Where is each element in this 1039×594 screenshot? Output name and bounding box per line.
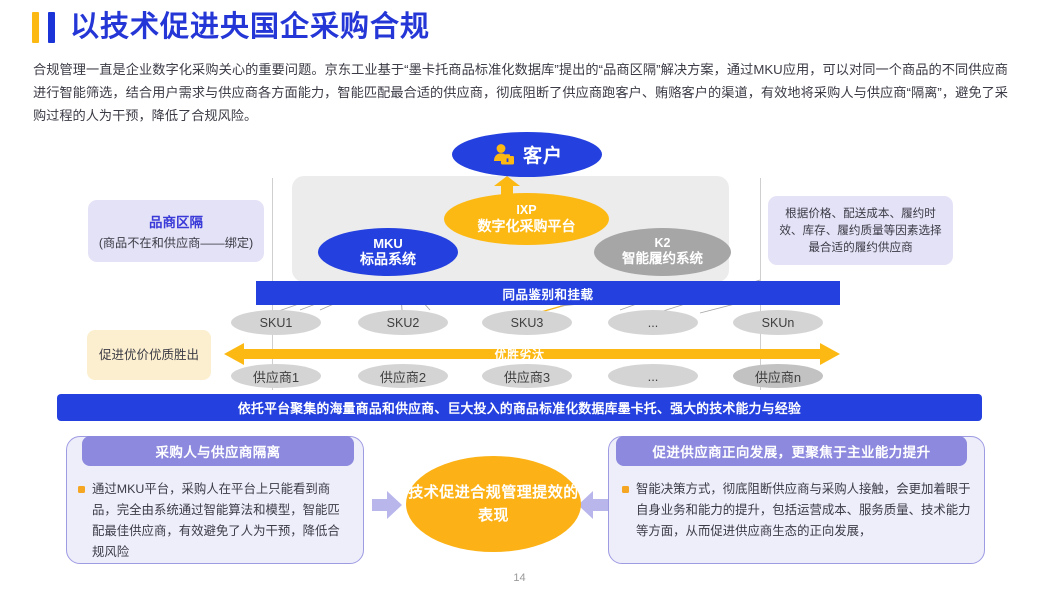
panel-left-body-text: 通过MKU平台，采购人在平台上只能看到商品，完全由系统通过智能算法和模型，智能匹… [92,479,350,563]
intro-paragraph: 合规管理一直是企业数字化采购关心的重要问题。京东工业基于“墨卡托商品标准化数据库… [33,58,1008,127]
title-accent-bar-blue [48,12,55,43]
bullet-icon [78,486,85,493]
center-summary-label: 技术促进合规管理提效的表现 [406,481,581,527]
panel-left-heading: 采购人与供应商隔离 [155,441,280,461]
ixp-node[interactable]: IXP 数字化采购平台 [444,193,609,245]
sku-pill[interactable]: SKU2 [358,310,448,335]
center-summary-node: 技术促进合规管理提效的表现 [406,456,581,552]
title-text: 以技术促进央国企采购合规 [70,12,430,43]
panel-left-body: 通过MKU平台，采购人在平台上只能看到商品，完全由系统通过智能算法和模型，智能匹… [78,479,350,563]
note-left-heading: 品商区隔 [149,211,203,231]
panel-right-header: 促进供应商正向发展，更聚焦于主业能力提升 [616,436,967,466]
panel-right-body-text: 智能决策方式，彻底阻断供应商与采购人接触，会更加着眼于自身业务和能力的提升，包括… [636,479,972,542]
panel-left-header: 采购人与供应商隔离 [82,436,354,466]
customer-label: 客户 [523,141,563,168]
title-accent-bar-yellow [32,12,39,43]
sku-pill[interactable]: ... [608,310,698,335]
foundation-bar: 依托平台聚集的海量商品和供应商、巨大投入的商品标准化数据库墨卡托、强大的技术能力… [57,394,982,421]
customer-person-icon [491,142,517,168]
mku-node[interactable]: MKU 标品系统 [318,228,458,276]
k2-line1: K2 [655,236,671,251]
customer-node[interactable]: 客户 [452,132,602,177]
sku-pill[interactable]: SKUn [733,310,823,335]
panel-right-body: 智能决策方式，彻底阻断供应商与采购人接触，会更加着眼于自身业务和能力的提升，包括… [622,479,972,542]
supplier-pill[interactable]: ... [608,364,698,388]
note-right-box: 根据价格、配送成本、履约时效、库存、履约质量等因素选择最合适的履约供应商 [768,196,953,265]
promote-quality-box: 促进优价优质胜出 [87,330,211,380]
panel-right-heading: 促进供应商正向发展，更聚焦于主业能力提升 [653,441,931,461]
note-left-box: 品商区隔 (商品不在和供应商——绑定) [88,200,264,262]
same-product-bar-label: 同品鉴别和挂载 [502,284,593,303]
supplier-pill[interactable]: 供应商2 [358,364,448,388]
k2-line2: 智能履约系统 [622,251,703,267]
arrow-right-icon [372,491,402,519]
supplier-pill[interactable]: 供应商3 [482,364,572,388]
same-product-bar: 同品鉴别和挂载 [256,281,840,305]
mku-line1: MKU [373,236,403,252]
slide-root: 以技术促进央国企采购合规 合规管理一直是企业数字化采购关心的重要问题。京东工业基… [0,0,1039,594]
note-left-body: (商品不在和供应商——绑定) [99,233,253,251]
k2-node[interactable]: K2 智能履约系统 [594,228,731,276]
bullet-icon [622,486,629,493]
page-title: 以技术促进央国企采购合规 [32,12,430,43]
sku-pill[interactable]: SKU1 [231,310,321,335]
supplier-pill[interactable]: 供应商n [733,364,823,388]
foundation-bar-label: 依托平台聚集的海量商品和供应商、巨大投入的商品标准化数据库墨卡托、强大的技术能力… [238,398,801,417]
ixp-line1: IXP [516,203,536,218]
arrow-left-icon [578,491,608,519]
page-number: 14 [0,572,1039,584]
sku-pill[interactable]: SKU3 [482,310,572,335]
ixp-line2: 数字化采购平台 [478,218,576,235]
mku-line2: 标品系统 [360,251,416,268]
supplier-pill[interactable]: 供应商1 [231,364,321,388]
